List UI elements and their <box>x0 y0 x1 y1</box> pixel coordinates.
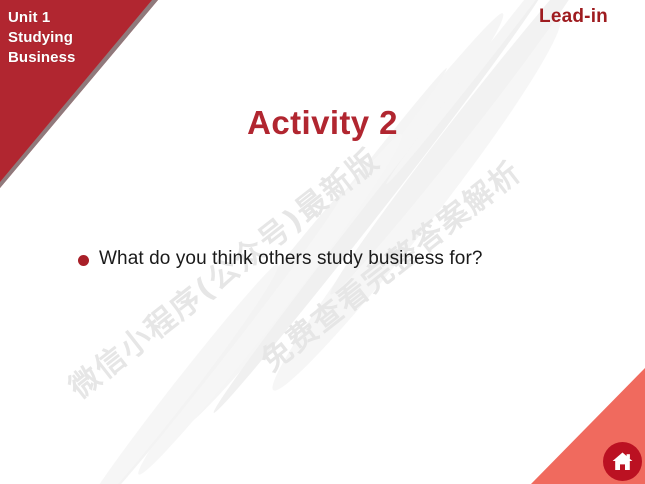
slide-canvas: 微信小程序(公众号)最新版 免费查看完整答案解析 Unit 1 Studying… <box>0 0 645 484</box>
home-button[interactable] <box>603 442 642 481</box>
page-title: Activity 2 <box>0 104 645 142</box>
home-icon <box>611 451 634 472</box>
unit-title-line-1: Unit 1 <box>8 8 76 28</box>
unit-title-line-2: Studying <box>8 28 76 48</box>
bullet-dot-icon <box>78 255 89 266</box>
unit-title-line-3: Business <box>8 48 76 68</box>
bullet-item-text: What do you think others study business … <box>99 248 483 270</box>
section-label: Lead-in <box>539 6 608 28</box>
bullet-list-item: What do you think others study business … <box>78 248 483 270</box>
unit-title-block: Unit 1 Studying Business <box>8 8 76 67</box>
